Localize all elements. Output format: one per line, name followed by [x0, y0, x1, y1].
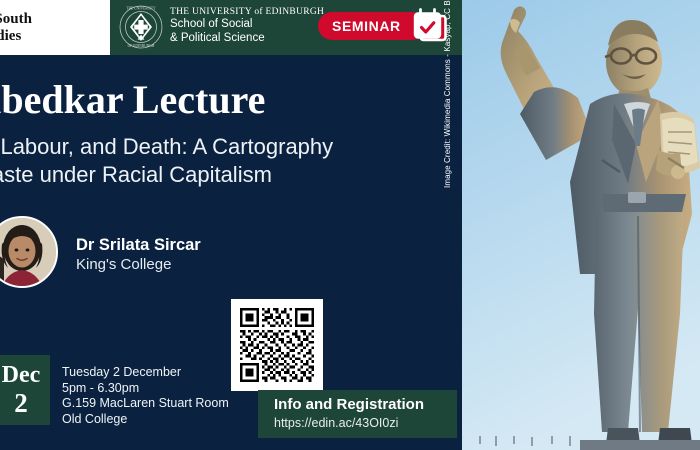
- university-crest-icon: THE UNIVERSITY OF EDINBURGH: [118, 4, 164, 50]
- university-wordmark-line-2: School of Social: [170, 18, 324, 32]
- svg-text:OF EDINBURGH: OF EDINBURGH: [128, 44, 155, 48]
- event-detail-time: 5pm - 6.30pm: [62, 381, 229, 397]
- speaker-avatar: [0, 216, 58, 288]
- university-wordmark-line-1: THE UNIVERSITY of EDINBURGH: [170, 7, 324, 18]
- event-date-badge: Dec 2: [0, 355, 50, 425]
- info-registration-title: Info and Registration: [274, 395, 457, 415]
- lecture-title: mbedkar Lecture: [0, 78, 462, 122]
- seminar-poster: re for South an Studies THE UNIVERSITY O…: [0, 0, 700, 450]
- event-date-month: Dec: [2, 362, 41, 388]
- centre-logo-line-2: an Studies: [0, 28, 110, 45]
- lecture-subtitle: e, Labour, and Death: A Cartography Cast…: [0, 133, 462, 189]
- event-details: Tuesday 2 December 5pm - 6.30pm G.159 Ma…: [62, 365, 229, 427]
- poster-left-panel: re for South an Studies THE UNIVERSITY O…: [0, 0, 462, 450]
- lecture-subtitle-line-1: e, Labour, and Death: A Cartography: [0, 133, 462, 161]
- lecture-subtitle-line-2: Caste under Racial Capitalism: [0, 161, 462, 189]
- seminar-badge: SEMINAR: [318, 12, 426, 40]
- speaker-name: Dr Srilata Sircar: [76, 236, 201, 255]
- speaker-affiliation: King's College: [76, 256, 171, 273]
- ambedkar-statue-photo: [462, 0, 700, 450]
- svg-text:THE UNIVERSITY: THE UNIVERSITY: [126, 7, 156, 11]
- registration-qr-code[interactable]: [231, 299, 323, 391]
- university-wordmark-line-3: & Political Science: [170, 32, 324, 46]
- info-and-registration-panel[interactable]: Info and Registration https://edin.ac/43…: [258, 390, 457, 438]
- event-detail-room: G.159 MacLaren Stuart Room: [62, 396, 229, 412]
- seminar-badge-label: SEMINAR: [332, 18, 401, 34]
- centre-for-south-asian-studies-logo: re for South an Studies: [0, 0, 110, 55]
- image-credit: Image Credit: Wikimedia Commons - Kasyap…: [443, 0, 452, 188]
- event-date-day: 2: [14, 388, 28, 418]
- registration-url[interactable]: https://edin.ac/43OI0zi: [274, 415, 457, 432]
- university-wordmark: THE UNIVERSITY of EDINBURGH School of So…: [170, 7, 324, 45]
- centre-logo-line-1: re for South: [0, 11, 110, 28]
- event-detail-date: Tuesday 2 December: [62, 365, 229, 381]
- poster-header-bar: re for South an Studies THE UNIVERSITY O…: [0, 0, 462, 55]
- event-detail-building: Old College: [62, 412, 229, 428]
